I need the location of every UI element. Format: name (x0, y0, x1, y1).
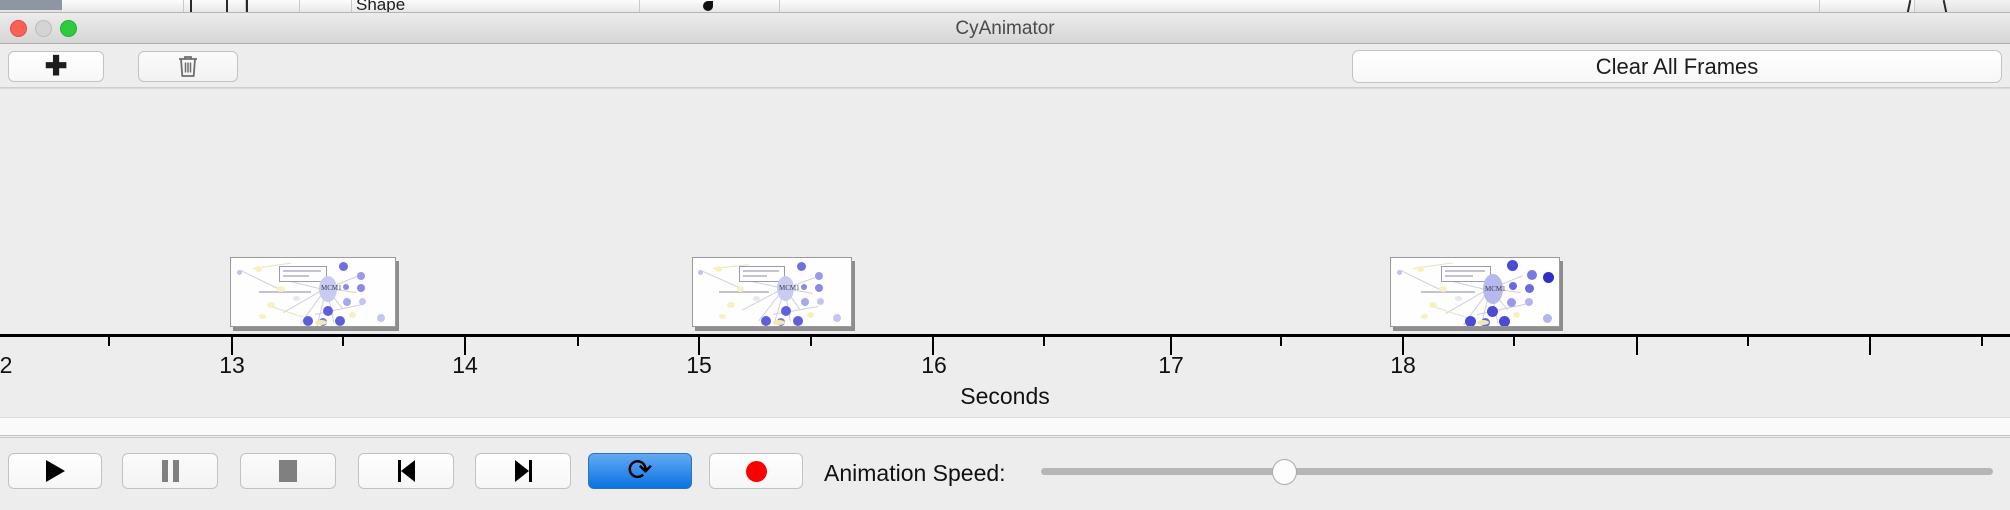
record-icon (746, 461, 767, 482)
playback-control-bar: ⟳ Animation Speed: (0, 437, 2010, 510)
add-frame-button[interactable]: ✚ (8, 51, 104, 82)
timeline-frame[interactable]: MCM1 (692, 257, 852, 327)
next-frame-button[interactable] (475, 453, 571, 489)
pause-button[interactable] (122, 453, 218, 489)
axis-tick-label: 16 (921, 352, 947, 379)
loop-button[interactable]: ⟳ (588, 453, 692, 489)
axis-title: Seconds (0, 383, 2010, 410)
axis-tick-label: 18 (1390, 352, 1416, 379)
frame-thumbnail: MCM1 (231, 258, 395, 326)
axis-tick-minor (1043, 337, 1045, 346)
timeline-frame[interactable]: MCM1 (1390, 257, 1560, 327)
stop-icon (279, 460, 297, 482)
axis-tick-minor (1513, 337, 1515, 346)
axis-tick-label: 15 (686, 352, 712, 379)
animation-speed-slider-thumb[interactable] (1272, 459, 1297, 485)
axis-tick-minor (342, 337, 344, 346)
axis-tick-major (1869, 337, 1871, 355)
plus-icon: ✚ (45, 53, 68, 80)
skip-forward-icon (515, 460, 532, 482)
play-button[interactable] (8, 453, 102, 489)
pause-icon (162, 460, 179, 482)
axis-tick-label: 17 (1158, 352, 1184, 379)
timeline-axis-line (0, 334, 2010, 337)
background-window-chip (0, 0, 62, 10)
timeline-panel[interactable]: MCM1 (0, 88, 2010, 416)
window-title: CyAnimator (0, 13, 2010, 44)
frame-thumbnail: MCM1 (693, 258, 851, 326)
background-window-label: Shape (356, 0, 405, 13)
axis-tick-major (1636, 337, 1638, 355)
title-bar: CyAnimator (0, 13, 2010, 44)
previous-frame-button[interactable] (358, 453, 454, 489)
animation-speed-label: Animation Speed: (824, 460, 1006, 487)
axis-tick-label: 14 (452, 352, 478, 379)
frame-toolbar: ✚ Clear All Frames (0, 44, 2010, 88)
stop-button[interactable] (240, 453, 336, 489)
axis-tick-minor (108, 337, 110, 346)
axis-tick-label: 13 (219, 352, 245, 379)
axis-tick-minor (1280, 337, 1282, 346)
skip-back-icon (398, 460, 415, 482)
clear-all-frames-button[interactable]: Clear All Frames (1352, 50, 2002, 83)
axis-tick-minor (810, 337, 812, 346)
animation-speed-slider[interactable] (1041, 468, 1993, 475)
timeline-frame[interactable]: MCM1 (230, 257, 396, 327)
trash-icon (177, 54, 199, 79)
loop-icon: ⟳ (627, 456, 652, 486)
delete-frame-button[interactable] (138, 51, 238, 82)
axis-tick-minor (1981, 337, 1983, 346)
cyanimator-window: Shape CyAnimator ✚ Clear All Frames (0, 0, 2010, 510)
timeline-scrollbar-track[interactable] (0, 417, 2010, 436)
axis-tick-label: 2 (0, 352, 12, 379)
frame-thumbnail: MCM1 (1391, 258, 1559, 326)
background-window-sliver: Shape (0, 0, 2010, 13)
axis-tick-minor (577, 337, 579, 346)
clear-all-frames-label: Clear All Frames (1596, 54, 1759, 80)
play-icon (46, 460, 65, 482)
axis-tick-minor (1747, 337, 1749, 346)
record-button[interactable] (709, 453, 803, 489)
